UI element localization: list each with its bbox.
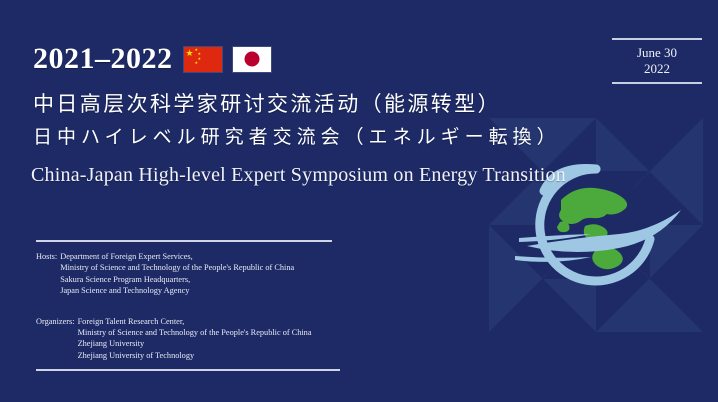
- organizers-group: Organizers: Foreign Talent Research Cent…: [36, 316, 340, 362]
- hosts-line: Department of Foreign Expert Services,: [60, 251, 340, 262]
- china-flag-star-large: ★: [186, 49, 194, 58]
- hosts-line: Japan Science and Technology Agency: [60, 285, 340, 296]
- hosts-group: Hosts: Department of Foreign Expert Serv…: [36, 251, 340, 297]
- organizers-line: Zhejiang University of Technology: [78, 350, 340, 361]
- china-flag-star-small-4: ★: [195, 61, 199, 65]
- organizers-lines: Foreign Talent Research Center, Ministry…: [78, 316, 340, 362]
- organizers-line: Zhejiang University: [78, 338, 340, 349]
- credits-block: Hosts: Department of Foreign Expert Serv…: [36, 240, 340, 371]
- hosts-line: Ministry of Science and Technology of th…: [60, 262, 340, 273]
- year-and-flags-row: 2021–2022 ★ ★ ★ ★ ★: [33, 44, 271, 74]
- globe-pinwheel-emblem: [489, 118, 703, 332]
- china-flag: ★ ★ ★ ★ ★: [184, 47, 222, 72]
- symposium-poster: 2021–2022 ★ ★ ★ ★ ★ 中日高层次科学家研讨交流活动（能源转型）…: [0, 0, 718, 402]
- title-chinese: 中日高层次科学家研讨交流活动（能源转型）: [33, 88, 501, 118]
- year-range: 2021–2022: [33, 44, 173, 74]
- title-english: China-Japan High-level Expert Symposium …: [31, 164, 566, 187]
- date-rule-bottom: [612, 82, 702, 84]
- credits-spacer-bottom: [36, 361, 340, 369]
- date-line-1: June 30: [612, 45, 702, 61]
- title-japanese: 日中ハイレベル研究者交流会（エネルギー転換）: [33, 122, 561, 149]
- organizers-line: Ministry of Science and Technology of th…: [78, 327, 340, 338]
- hosts-label: Hosts:: [36, 251, 60, 297]
- japan-flag-disc: [244, 52, 259, 67]
- credits-divider-top: [36, 240, 332, 242]
- hosts-lines: Department of Foreign Expert Services, M…: [60, 251, 340, 297]
- china-flag-star-small-2: ★: [198, 52, 202, 56]
- organizers-line: Foreign Talent Research Center,: [78, 316, 340, 327]
- hosts-line: Sakura Science Program Headquarters,: [60, 274, 340, 285]
- date-block: June 30 2022: [612, 38, 702, 84]
- japan-flag: [233, 47, 271, 72]
- organizers-label: Organizers:: [36, 316, 78, 362]
- credits-spacer: [36, 297, 340, 307]
- date-rule-top: [612, 38, 702, 40]
- credits-divider-bottom: [36, 369, 340, 371]
- date-line-2: 2022: [612, 61, 702, 77]
